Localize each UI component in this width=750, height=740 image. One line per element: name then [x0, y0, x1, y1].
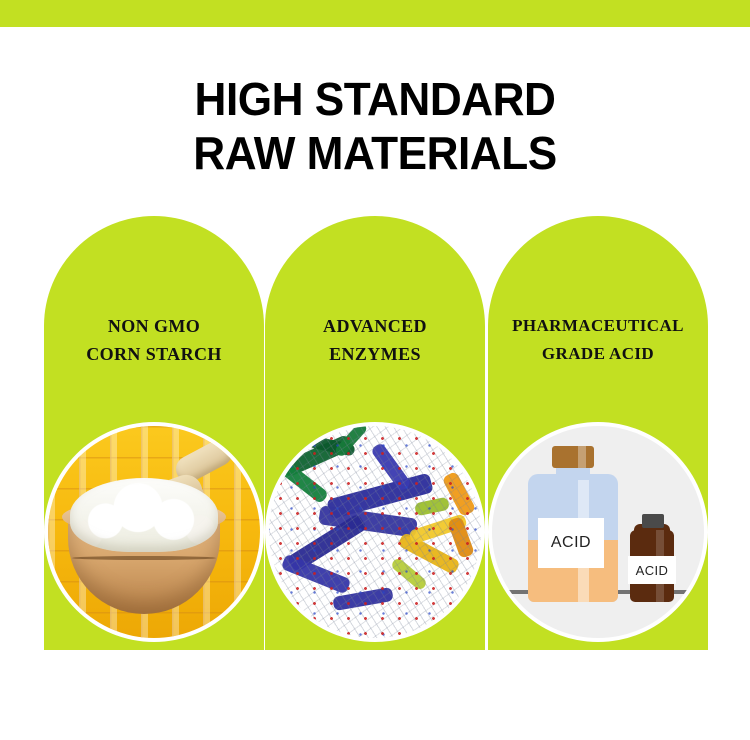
acid-bottles-illustration: ACID ACID — [492, 426, 704, 638]
large-bottle-cap-highlight — [578, 446, 586, 468]
small-bottle-label: ACID — [628, 556, 676, 584]
page-title: HIGH STANDARD RAW MATERIALS — [15, 72, 735, 180]
large-bottle-label: ACID — [538, 518, 604, 568]
small-bottle-cap — [642, 514, 664, 528]
card-non-gmo-corn-starch[interactable]: NON GMO CORN STARCH — [44, 216, 264, 650]
card-label-pharmaceutical-grade-acid: PHARMACEUTICAL GRADE ACID — [488, 312, 708, 368]
protein-atom-markers — [269, 426, 481, 638]
white-starch-powder — [70, 478, 218, 552]
corn-starch-bowl-photo — [48, 426, 260, 638]
large-bottle-cork-cap — [552, 446, 594, 468]
raw-materials-card-row: NON GMO CORN STARCH ADVANCED ENZYMES — [0, 216, 750, 676]
card-pharmaceutical-grade-acid[interactable]: PHARMACEUTICAL GRADE ACID ACID ACID — [488, 216, 708, 650]
wooden-bowl-groove — [72, 556, 216, 560]
card-label-advanced-enzymes: ADVANCED ENZYMES — [265, 312, 485, 368]
card-advanced-enzymes[interactable]: ADVANCED ENZYMES — [265, 216, 485, 650]
card-label-non-gmo-corn-starch: NON GMO CORN STARCH — [44, 312, 264, 368]
top-accent-bar — [0, 0, 750, 27]
enzyme-protein-structure-photo — [269, 426, 481, 638]
